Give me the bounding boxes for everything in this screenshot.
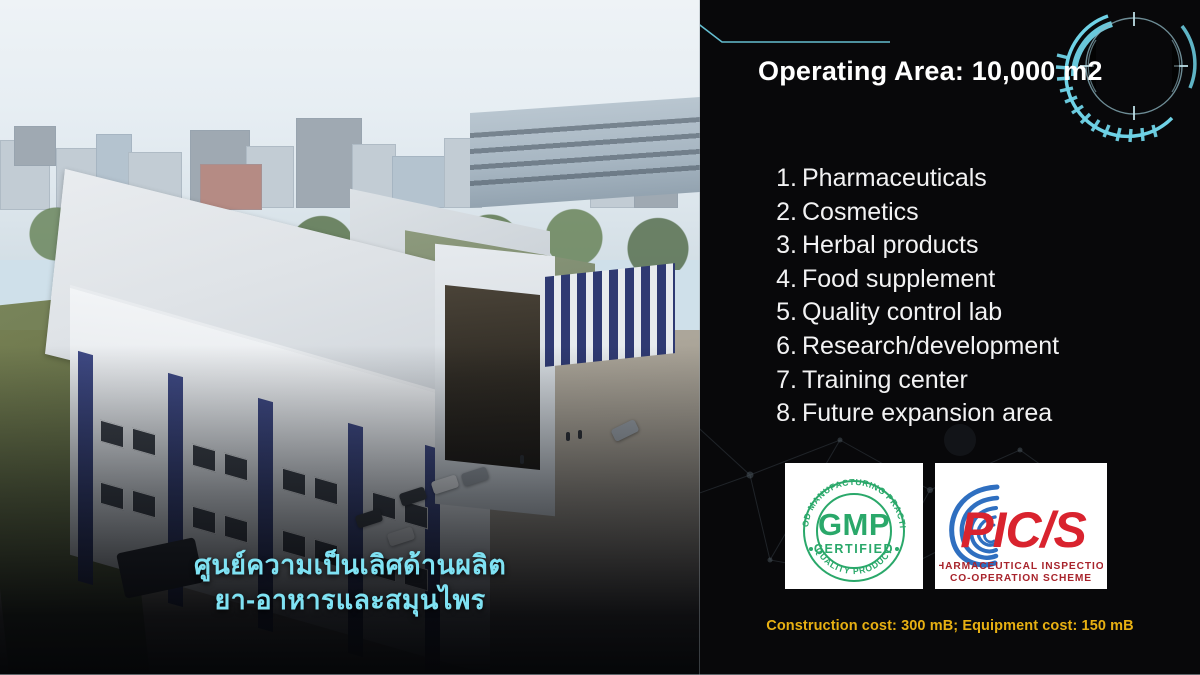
panel-divider bbox=[699, 0, 700, 675]
pics-subtitle-line-2: CO-OPERATION SCHEME bbox=[950, 573, 1092, 584]
list-item-number: 5. bbox=[740, 296, 802, 330]
thai-caption: ศูนย์ความเป็นเลิศด้านผลิต ยา-อาหารและสมุ… bbox=[0, 548, 700, 619]
pic-s-logo: PIC/S PHARMACEUTICAL INSPECTION CO-OPERA… bbox=[935, 463, 1107, 589]
list-item-label: Pharmaceuticals bbox=[802, 162, 987, 196]
list-item: 6. Research/development bbox=[740, 330, 1160, 364]
list-item-label: Cosmetics bbox=[802, 196, 919, 230]
list-item-label: Quality control lab bbox=[802, 296, 1002, 330]
list-item: 1. Pharmaceuticals bbox=[740, 162, 1160, 196]
page-title: Operating Area: 10,000 m2 bbox=[758, 56, 1103, 87]
certification-logos: GOOD MANUFACTURING PRACTICE QUALITY PROD… bbox=[785, 463, 1107, 589]
list-item: 3. Herbal products bbox=[740, 229, 1160, 263]
list-item: 2. Cosmetics bbox=[740, 196, 1160, 230]
list-item-label: Herbal products bbox=[802, 229, 978, 263]
pics-main-text: PIC/S bbox=[960, 502, 1086, 558]
info-panel: Operating Area: 10,000 m2 1. Pharmaceuti… bbox=[700, 0, 1200, 675]
list-item: 5. Quality control lab bbox=[740, 296, 1160, 330]
list-item-number: 4. bbox=[740, 263, 802, 297]
pics-subtitle-line-1: PHARMACEUTICAL INSPECTION bbox=[939, 561, 1103, 572]
list-item: 7. Training center bbox=[740, 364, 1160, 398]
list-item-label: Food supplement bbox=[802, 263, 995, 297]
capability-list: 1. Pharmaceuticals 2. Cosmetics 3. Herba… bbox=[740, 162, 1160, 431]
slide-root: ศูนย์ความเป็นเลิศด้านผลิต ยา-อาหารและสมุ… bbox=[0, 0, 1200, 675]
list-item-number: 2. bbox=[740, 196, 802, 230]
thai-caption-line-1: ศูนย์ความเป็นเลิศด้านผลิต bbox=[0, 548, 700, 584]
aerial-photo-pharmaceutical-building: ศูนย์ความเป็นเลิศด้านผลิต ยา-อาหารและสมุ… bbox=[0, 0, 700, 675]
list-item-number: 3. bbox=[740, 229, 802, 263]
gmp-main-text: GMP bbox=[818, 507, 890, 542]
photo-bottom-gradient bbox=[0, 345, 700, 675]
list-item-number: 8. bbox=[740, 397, 802, 431]
list-item: 4. Food supplement bbox=[740, 263, 1160, 297]
cost-caption: Construction cost: 300 mB; Equipment cos… bbox=[700, 618, 1200, 634]
thai-caption-line-2: ยา-อาหารและสมุนไพร bbox=[0, 583, 700, 619]
list-item-number: 1. bbox=[740, 162, 802, 196]
list-item-number: 7. bbox=[740, 364, 802, 398]
list-item-label: Research/development bbox=[802, 330, 1059, 364]
list-item-number: 6. bbox=[740, 330, 802, 364]
list-item: 8. Future expansion area bbox=[740, 397, 1160, 431]
list-item-label: Training center bbox=[802, 364, 968, 398]
list-item-label: Future expansion area bbox=[802, 397, 1052, 431]
gmp-certified-logo: GOOD MANUFACTURING PRACTICE QUALITY PROD… bbox=[785, 463, 923, 589]
gmp-sub-text: CERTIFIED bbox=[814, 542, 894, 556]
